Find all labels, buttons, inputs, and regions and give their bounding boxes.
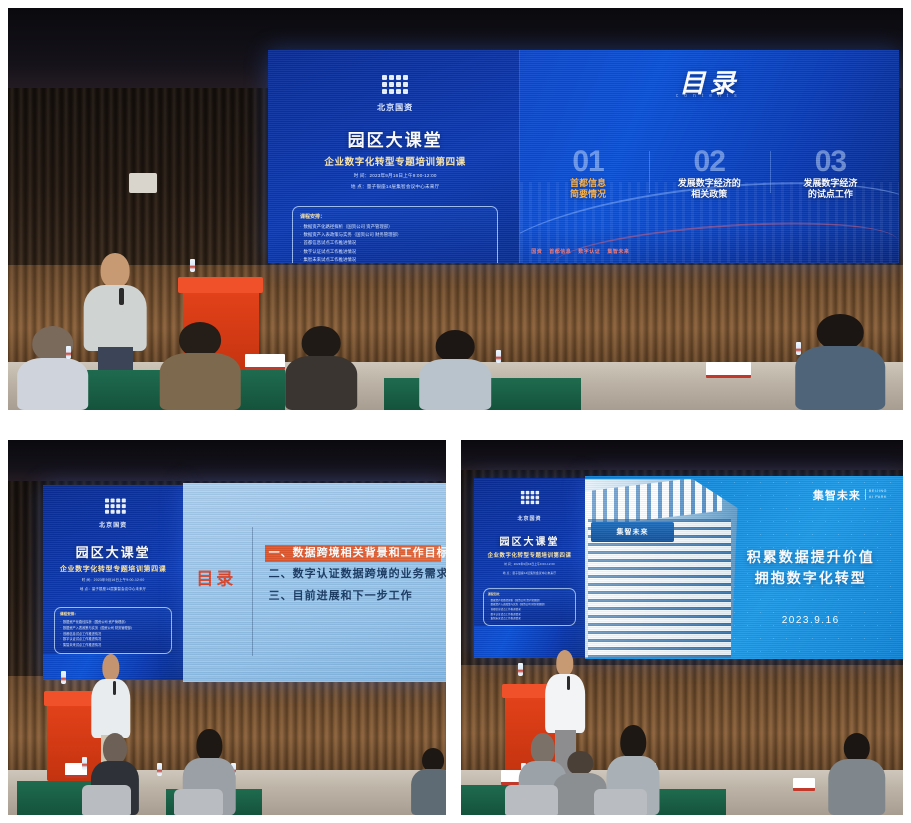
wall-fixture: [129, 173, 158, 193]
list-item: 数据资产化路径探析（国资公司 资产管理部）: [300, 223, 490, 231]
list-item: 集智未来试点工作推进情况: [488, 617, 571, 622]
audience-member: [285, 326, 357, 410]
brand-name: 北京国资: [51, 520, 174, 529]
microphone-icon: [567, 676, 570, 690]
catalog-label: 首都信息 简要情况: [531, 178, 644, 201]
audience-member: [420, 330, 492, 410]
slide-main-title: 园区大课堂: [288, 126, 503, 151]
water-bottle: [82, 757, 87, 770]
chair: [594, 789, 647, 815]
head: [531, 733, 555, 764]
body: [828, 759, 885, 815]
grid-logo-icon: [520, 491, 538, 504]
speaker-body: [91, 679, 130, 738]
head: [568, 751, 593, 775]
speaker-head: [556, 650, 573, 676]
speaker: [84, 253, 147, 386]
body: [796, 346, 886, 410]
catalog-item-01: 01 首都信息 简要情况: [527, 148, 648, 200]
slide-time-line: 时 间：2023年9月16日上午9:00-12:00: [51, 578, 174, 584]
led-screen-slide-a: 北京国资 园区大课堂 企业数字化转型专题培训第四课 时 间：2023年9月16日…: [268, 50, 899, 263]
slide-place-line: 地 点：量子银座14层集智会议中心未来厅: [288, 183, 503, 191]
building-photo: 集智未来: [585, 479, 738, 657]
water-bottle: [796, 342, 801, 355]
ai-park-logo: 集智未来 BEIJING AI PARK: [813, 487, 887, 503]
body: [17, 358, 89, 410]
slide-headline: 积累数据提升价值 拥抱数字化转型: [734, 547, 887, 589]
speaker-body: [84, 285, 147, 351]
catalog-item-3: 三、目前进展和下一步工作: [265, 588, 441, 606]
name-card: [793, 778, 815, 791]
water-bottle: [518, 663, 523, 676]
catalog-items-row: 01 首都信息 简要情况 02 发展数字经济的 相关政策 03 发展数字经济 的…: [527, 148, 890, 200]
water-bottle: [190, 259, 195, 272]
photo-panel-bottom-left: 北京国资 园区大课堂 企业数字化转型专题培训第四课 时 间：2023年9月16日…: [8, 440, 446, 815]
slide-right-column: 目录 contents 01 首都信息 简要情况 02 发展数字经济的 相关政策…: [520, 50, 899, 263]
led-screen-title-slide: 北京国资 园区大课堂 企业数字化转型专题培训第四课 时 间：2023年9月16日…: [43, 485, 183, 680]
logo-cn-text: 集智未来: [813, 487, 861, 503]
water-bottle: [157, 763, 162, 776]
footer-mark: 集智未来: [607, 248, 629, 255]
slide-title-catalog: 北京国资 园区大课堂 企业数字化转型专题培训第四课 时 间：2023年9月16日…: [268, 50, 899, 263]
brand-block: 北京国资: [481, 488, 578, 522]
catalog-item-1: 一、数据跨境相关背景和工作目标: [265, 545, 441, 563]
brand-block: 北京国资: [288, 75, 503, 113]
course-box-title: 课程安排：: [300, 213, 490, 220]
slide-left-column: 北京国资 园区大课堂 企业数字化转型专题培训第四课 时 间：2023年9月16日…: [268, 50, 520, 263]
slide-place-line: 地 点：量子银座14层集智会议中心未来厅: [481, 572, 578, 577]
led-screen-slide-c: 集智未来 集智未来 BEIJING AI PARK 积累数据提升价值 拥抱数字化…: [585, 476, 903, 660]
speaker-head: [102, 654, 119, 681]
list-item: 集智未来试点工作推进情况: [60, 643, 166, 649]
audience-member: [828, 733, 885, 816]
slide-time-line: 时 间：2023年9月16日上午9:00-12:00: [481, 563, 578, 568]
water-bottle: [66, 346, 71, 359]
course-item-list: 数据资产化路径探析（国资公司 资产管理部） 数据资产入表政策与实务（国资公司 财…: [488, 599, 571, 622]
grid-logo-icon: [382, 75, 408, 94]
headline-line-2: 拥抱数字化转型: [734, 568, 887, 589]
list-item: 集智未来试点工作推进情况: [300, 256, 490, 264]
speaker-head: [101, 253, 130, 287]
footer-mark: 国资: [531, 248, 542, 255]
slide-date: 2023.9.16: [750, 615, 871, 626]
water-bottle: [496, 350, 501, 363]
slide-subtitle: 企业数字化转型专题培训第四课: [481, 551, 578, 559]
brand-name: 北京国资: [288, 102, 503, 113]
head: [197, 729, 222, 762]
speaker-body: [545, 674, 585, 733]
course-box-title: 课程安排：: [488, 592, 571, 596]
course-schedule-box: 课程安排： 数据资产化路径探析（国资公司 资产管理部） 数据资产入表政策与实务（…: [54, 607, 172, 655]
slide-catalog-cross-border: 目录 一、数据跨境相关背景和工作目标 二、数字认证数据跨境的业务需求 三、目前进…: [183, 483, 446, 682]
body: [411, 769, 446, 815]
slide-left-column: 北京国资 园区大课堂 企业数字化转型专题培训第四课 时 间：2023年9月16日…: [474, 478, 585, 626]
divider-line: [252, 527, 253, 656]
chair: [82, 785, 130, 815]
footer-mark: 首都信息: [549, 248, 571, 255]
catalog-number: 02: [653, 148, 766, 177]
audience-member: [17, 326, 89, 410]
photo-panel-bottom-right: 北京国资 园区大课堂 企业数字化转型专题培训第四课 时 间：2023年9月16日…: [461, 440, 903, 815]
microphone-icon: [119, 288, 125, 305]
catalog-item-2: 二、数字认证数据跨境的业务需求: [265, 566, 441, 584]
brand-name: 北京国资: [481, 515, 578, 522]
headline-line-1: 积累数据提升价值: [734, 547, 887, 568]
footer-mark: 数字认证: [578, 248, 600, 255]
slide-place-line: 地 点：量子银座14层集智会议中心未来厅: [51, 587, 174, 593]
grid-logo-icon: [105, 499, 121, 511]
audience-member: [411, 748, 446, 816]
body: [285, 356, 357, 410]
podium-top: [178, 277, 263, 293]
catalog-number: 01: [531, 148, 644, 177]
ceiling: [461, 440, 903, 470]
slide-time-line: 时 间：2023年9月16日上午9:00-12:00: [288, 172, 503, 180]
catalog-heading: 目录: [196, 564, 236, 589]
course-schedule-box: 课程安排： 数据资产化路径探析（国资公司 资产管理部） 数据资产入表政策与实务（…: [292, 206, 498, 263]
water-bottle: [61, 671, 66, 684]
slide-main-title: 园区大课堂: [51, 542, 174, 561]
head: [843, 733, 869, 763]
body: [160, 353, 241, 410]
list-item: 首都信息试点工作推进情况: [300, 239, 490, 247]
catalog-subtitle: contents: [520, 93, 899, 99]
head: [817, 314, 864, 351]
course-box-title: 课程安排：: [60, 612, 166, 617]
list-item: 数据资产入表政策与实务（国资公司 财务管理部）: [300, 231, 490, 239]
photo-collage: 北京国资 园区大课堂 企业数字化转型专题培训第四课 时 间：2023年9月16日…: [0, 0, 911, 823]
chair: [505, 785, 558, 815]
body: [420, 359, 492, 410]
head: [179, 322, 221, 357]
microphone-icon: [113, 681, 116, 695]
head: [103, 733, 127, 764]
head: [302, 326, 341, 360]
slide-title-small: 北京国资 园区大课堂 企业数字化转型专题培训第四课 时 间：2023年9月16日…: [474, 478, 585, 658]
head: [436, 330, 475, 362]
slide-footer-marks: 国资 首都信息 数字认证 集智未来: [531, 248, 629, 255]
brand-block: 北京国资: [51, 497, 174, 529]
led-screen-title-slide: 北京国资 园区大课堂 企业数字化转型专题培训第四课 时 间：2023年9月16日…: [474, 478, 585, 658]
chair: [174, 789, 222, 815]
list-item: 数字认证试点工作推进情况: [300, 248, 490, 256]
catalog-item-03: 03 发展数字经济 的试点工作: [770, 148, 891, 200]
slide-subtitle: 企业数字化转型专题培训第四课: [288, 154, 503, 168]
name-card: [706, 362, 751, 378]
audience-member: [796, 314, 886, 410]
head: [621, 725, 646, 759]
logo-en-text: BEIJING AI PARK: [865, 489, 887, 499]
catalog-number: 03: [774, 148, 887, 177]
name-card: [245, 354, 285, 370]
slide-subtitle: 企业数字化转型专题培训第四课: [51, 564, 174, 574]
catalog-label: 发展数字经济 的试点工作: [774, 178, 887, 201]
catalog-label: 发展数字经济的 相关政策: [653, 178, 766, 201]
slide-ai-park: 集智未来 集智未来 BEIJING AI PARK 积累数据提升价值 拥抱数字化…: [585, 476, 903, 660]
course-schedule-box: 课程安排： 数据资产化路径探析（国资公司 资产管理部） 数据资产入表政策与实务（…: [483, 588, 576, 626]
building-sign: 集智未来: [591, 522, 674, 542]
slide-left-column: 北京国资 园区大课堂 企业数字化转型专题培训第四课 时 间：2023年9月16日…: [43, 485, 183, 654]
course-item-list: 数据资产化路径探析（国资公司 资产管理部） 数据资产入表政策与实务（国资公司 财…: [300, 223, 490, 263]
led-screen-slide-b: 目录 一、数据跨境相关背景和工作目标 二、数字认证数据跨境的业务需求 三、目前进…: [183, 483, 446, 682]
slide-main-title: 园区大课堂: [481, 533, 578, 548]
ceiling: [8, 440, 446, 481]
course-item-list: 数据资产化路径探析（国资公司 资产管理部） 数据资产入表政策与实务（国资公司 财…: [60, 620, 166, 650]
photo-panel-top: 北京国资 园区大课堂 企业数字化转型专题培训第四课 时 间：2023年9月16日…: [8, 8, 903, 410]
audience-member: [160, 322, 241, 410]
catalog-list: 一、数据跨境相关背景和工作目标 二、数字认证数据跨境的业务需求 三、目前进展和下…: [265, 545, 441, 610]
catalog-item-02: 02 发展数字经济的 相关政策: [649, 148, 770, 200]
slide-title-small: 北京国资 园区大课堂 企业数字化转型专题培训第四课 时 间：2023年9月16日…: [43, 485, 183, 680]
